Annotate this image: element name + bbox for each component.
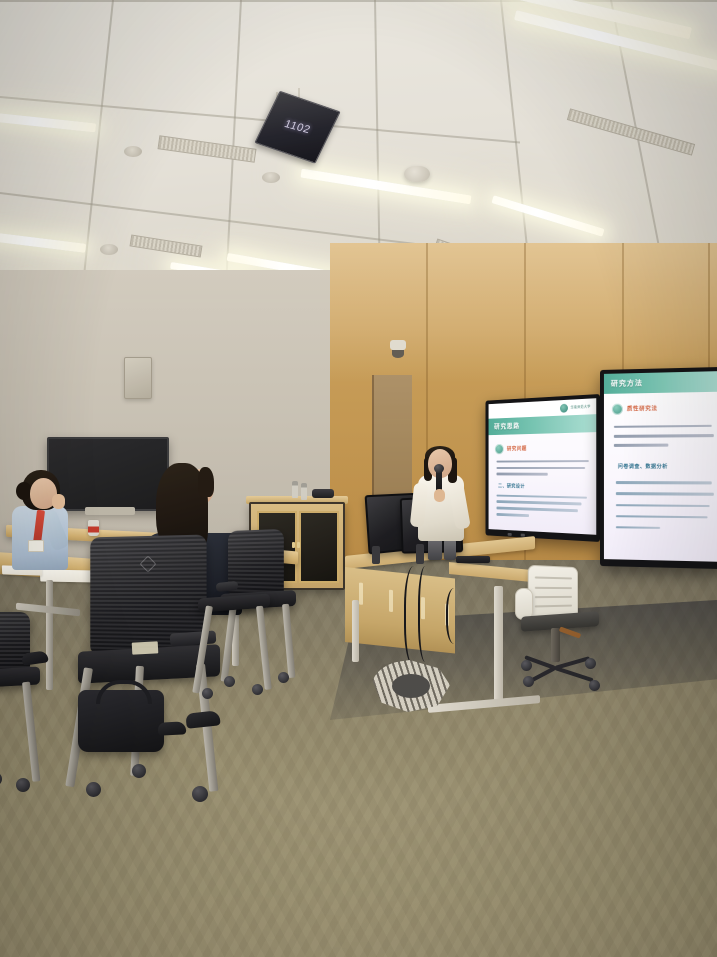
right-bullet-title: 质性研究法 [627,404,658,413]
left-slide-title: 研究思路 [489,421,520,431]
ceiling-light [491,195,604,237]
power-cable [446,588,466,644]
right-display[interactable]: 研究方法 质性研究法 问卷调查、数据分析 [600,367,717,569]
white-task-chair[interactable] [509,566,605,696]
ceiling-light [300,169,471,205]
room-scene: 1102 华南师范大学 研究思路 [0,0,717,957]
shoe [158,721,187,735]
lectern-front-panel [345,567,455,654]
object-on-cabinet[interactable] [312,489,334,498]
bullet-badge-icon [612,403,623,414]
red-cup[interactable] [88,520,99,536]
hvac-vent [567,108,695,155]
right-slide-header: 研究方法 [604,371,717,394]
left-slide-bullet: 研究问题 [495,443,527,454]
right-slide-title: 研究方法 [604,378,643,389]
black-mesh-chair[interactable] [0,612,52,802]
microphone-head-icon [434,464,444,473]
smoke-detector [404,166,430,182]
power-cable [418,566,436,662]
presenter [412,449,476,559]
desk-leg [352,600,359,662]
ceiling-light [0,232,86,253]
wall-speaker [124,357,152,399]
lectern-desk [345,556,535,616]
hvac-vent [130,234,203,257]
name-badge [28,540,44,552]
ceiling-light [434,0,692,39]
left-slide: 华南师范大学 研究思路 研究问题 二、研究设计 [489,398,597,535]
right-slide-bullet: 质性研究法 [612,403,658,415]
left-display[interactable]: 华南师范大学 研究思路 研究问题 二、研究设计 [485,394,600,542]
left-bullet-title: 研究问题 [507,445,527,453]
water-bottle[interactable] [292,481,298,498]
university-logo-icon [560,403,568,412]
presenter-hand [434,489,445,502]
left-slide-header: 研究思路 [489,415,597,436]
water-bottle[interactable] [301,483,307,500]
university-logo-text: 华南师范大学 [570,405,590,410]
desk-leg [494,586,503,706]
floor-bag[interactable] [78,690,164,752]
right-slide: 研究方法 质性研究法 问卷调查、数据分析 [604,371,717,562]
room-sign-text: 1102 [283,118,313,136]
cabinet-door-right[interactable] [299,511,339,584]
chair-tag [132,641,159,654]
ceiling-camera [390,340,410,356]
tv-stand [85,507,135,515]
monitor-stand [372,546,380,564]
ceiling-speaker [100,244,118,255]
left-slide-subhead: 二、研究设计 [498,483,525,490]
ceiling-speaker [262,172,280,183]
bullet-badge-icon [495,444,504,454]
right-slide-subhead: 问卷调查、数据分析 [618,463,668,470]
hvac-vent [158,135,257,163]
cable-spine-inner [392,674,430,698]
ceiling-speaker [124,146,142,157]
ceiling-light [0,113,96,133]
